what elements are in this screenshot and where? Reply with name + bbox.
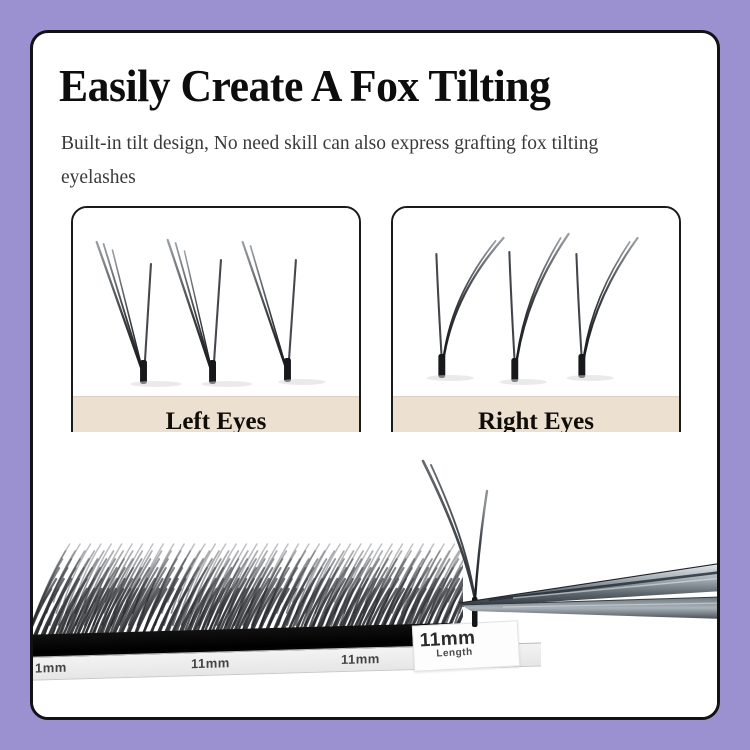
- panel-right-eyes: Right Eyes: [391, 206, 681, 449]
- left-tilt-lash-illustration: [73, 208, 359, 401]
- page-title: Easily Create A Fox Tilting: [59, 63, 680, 110]
- content-card: Easily Create A Fox Tilting Built-in til…: [30, 30, 720, 720]
- ruler-tick-2: 11mm: [341, 651, 380, 667]
- panel-left-eyes: Left Eyes: [71, 206, 361, 449]
- tweezers-with-lash-fan: [393, 451, 717, 631]
- page-subtitle: Built-in tilt design, No need skill can …: [61, 127, 661, 195]
- length-caption: Length: [436, 647, 473, 660]
- comparison-panels: Left Eyes: [71, 206, 681, 449]
- product-marketing-image: Easily Create A Fox Tilting Built-in til…: [0, 0, 750, 750]
- ruler-tick-0: 1mm: [35, 660, 67, 676]
- right-tilt-lash-illustration: [393, 208, 679, 401]
- ruler-tick-1: 11mm: [191, 655, 230, 671]
- product-photo: 1mm 11mm 11mm 11mm Length: [33, 432, 717, 717]
